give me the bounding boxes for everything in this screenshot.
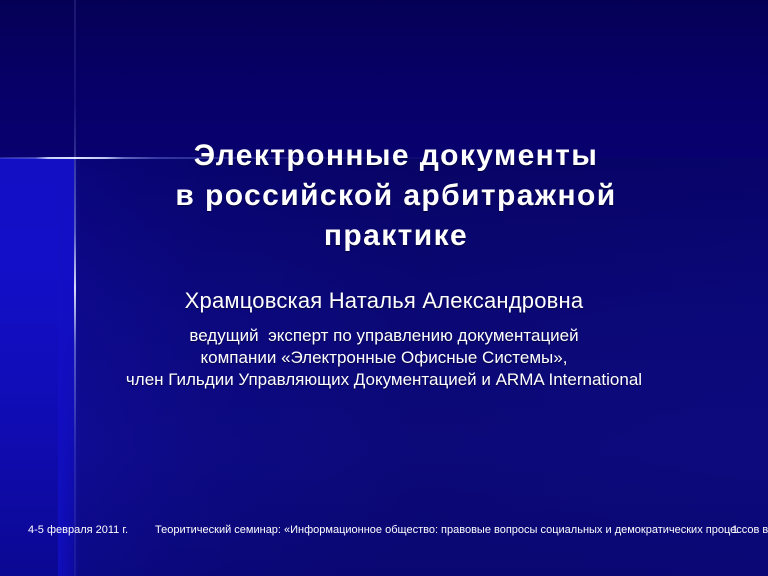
author-affiliation: ведущий эксперт по управлению документац… <box>20 325 748 391</box>
slide-title-line-1: Электронные документы <box>96 136 696 176</box>
slide-footer: 4-5 февраля 2011 г. Теоритический семина… <box>0 522 768 542</box>
footer-date: 4-5 февраля 2011 г. <box>28 522 128 538</box>
affiliation-line-1: ведущий эксперт по управлению документац… <box>20 325 748 347</box>
affiliation-line-2: компании «Электронные Офисные Системы», <box>20 347 748 369</box>
slide-title-line-2: в российской арбитражной <box>96 176 696 216</box>
affiliation-line-3: член Гильдии Управляющих Документацией и… <box>20 369 748 391</box>
presentation-slide: Электронные документы в российской арбит… <box>0 0 768 576</box>
footer-seminar-title: Теоритический семинар: «Информационное о… <box>155 522 768 538</box>
slide-number: 1 <box>732 522 738 538</box>
slide-title: Электронные документы в российской арбит… <box>96 136 696 256</box>
background-upper-gradient <box>0 0 768 158</box>
slide-title-line-3: практике <box>96 216 696 256</box>
author-name: Храмцовская Наталья Александровна <box>40 287 728 315</box>
